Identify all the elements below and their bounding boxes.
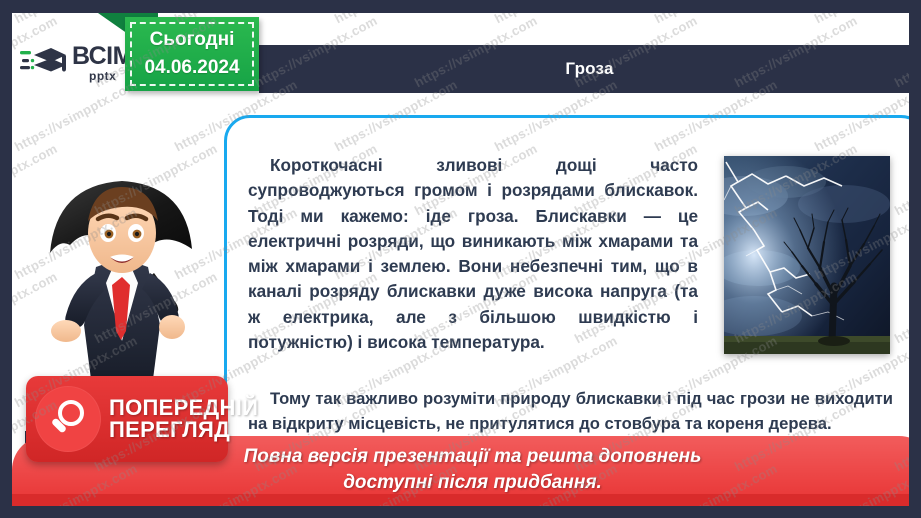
preview-badge-line-two: ПЕРЕГЛЯД xyxy=(109,419,258,441)
body-paragraph-two: Тому так важливо розуміти природу блиска… xyxy=(248,387,893,437)
watermark-text: https://vsimpptx.com xyxy=(812,13,909,26)
watermark-text: https://vsimpptx.com xyxy=(492,13,620,26)
watermark-text: https://vsimpptx.com xyxy=(652,13,780,26)
date-badge-label: Сьогодні xyxy=(150,26,235,54)
paragraph-text: Короткочасні зливові дощі часто супровод… xyxy=(248,153,698,355)
presentation-slide: ВСІМ pptx Сьогодні 04.06.2024 Гроза Коро… xyxy=(0,0,921,518)
paragraph-text: Тому так важливо розуміти природу блиска… xyxy=(248,387,893,437)
page-title: Гроза xyxy=(565,59,613,79)
slide-title-bar: Гроза xyxy=(259,45,909,93)
today-date-badge: Сьогодні 04.06.2024 xyxy=(125,17,259,91)
preview-badge-line-one: ПОПЕРЕДНІЙ xyxy=(109,397,258,419)
lightning-storm-tree-photo xyxy=(724,156,890,354)
slide-page: ВСІМ pptx Сьогодні 04.06.2024 Гроза Коро… xyxy=(12,13,909,506)
graduation-cap-icon xyxy=(20,43,66,83)
magnifier-icon xyxy=(35,386,101,452)
date-badge-value: 04.06.2024 xyxy=(144,54,239,82)
footer-strip xyxy=(12,494,909,506)
footer-line-two: доступні після придбання. xyxy=(12,470,909,496)
watermark-text: https://vsimpptx.com xyxy=(332,13,460,26)
preview-badge[interactable]: ПОПЕРЕДНІЙ ПЕРЕГЛЯД xyxy=(26,376,228,462)
logo-title: ВСІМ xyxy=(72,44,133,69)
body-paragraph-one: Короткочасні зливові дощі часто супровод… xyxy=(248,153,698,355)
